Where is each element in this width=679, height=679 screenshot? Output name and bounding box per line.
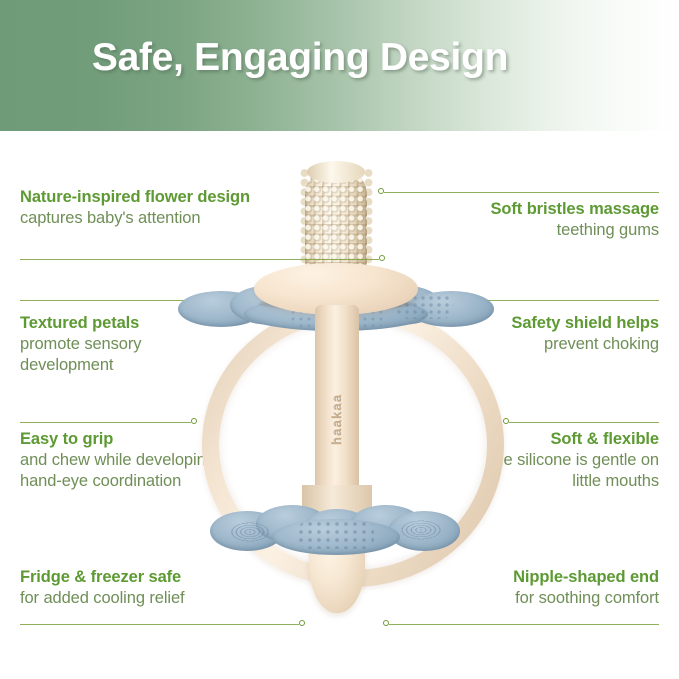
leader-endpoint-dot bbox=[378, 188, 384, 194]
leader-line-stroke bbox=[389, 624, 659, 625]
callout-body: for added cooling relief bbox=[20, 588, 250, 609]
callout-left-4: Fridge & freezer safe for added cooling … bbox=[20, 568, 250, 609]
brand-logo: haakaa bbox=[318, 373, 356, 465]
header-banner: Safe, Engaging Design bbox=[0, 0, 679, 131]
leader-line-stroke bbox=[20, 259, 379, 260]
leader-line-stroke bbox=[509, 422, 659, 423]
bristle-brush-top bbox=[307, 161, 365, 183]
lower-flower-petals bbox=[210, 503, 460, 561]
leader-endpoint-dot bbox=[503, 418, 509, 424]
callout-heading: Soft bristles massage bbox=[419, 200, 659, 220]
leader-line-right-4 bbox=[383, 620, 659, 629]
leader-line-left-3 bbox=[20, 418, 197, 427]
callout-right-1: Soft bristles massage teething gums bbox=[419, 200, 659, 241]
callout-body: captures baby's attention bbox=[20, 208, 250, 229]
callout-body: promote sensory development bbox=[20, 334, 210, 376]
petal-dot-texture bbox=[298, 521, 374, 549]
callout-right-4: Nipple-shaped end for soothing comfort bbox=[419, 568, 659, 609]
leader-line-right-3 bbox=[503, 418, 659, 427]
callout-body: teething gums bbox=[419, 220, 659, 241]
callout-body: for soothing comfort bbox=[419, 588, 659, 609]
callout-heading: Nipple-shaped end bbox=[419, 568, 659, 588]
leader-line-left-4 bbox=[20, 620, 305, 629]
leader-line-stroke bbox=[384, 192, 659, 193]
leader-line-right-1 bbox=[378, 188, 659, 197]
callout-heading: Nature-inspired flower design bbox=[20, 188, 250, 208]
petal-spiral-texture bbox=[398, 519, 444, 541]
leader-endpoint-dot bbox=[191, 418, 197, 424]
leader-endpoint-dot bbox=[299, 620, 305, 626]
page-title: Safe, Engaging Design bbox=[0, 36, 600, 80]
leader-endpoint-dot bbox=[379, 255, 385, 261]
leader-line-stroke bbox=[20, 422, 191, 423]
callout-heading: Easy to grip bbox=[20, 430, 220, 450]
leader-endpoint-dot bbox=[383, 620, 389, 626]
callout-left-1: Nature-inspired flower design captures b… bbox=[20, 188, 250, 229]
callout-left-3: Easy to grip and chew while developing h… bbox=[20, 430, 220, 492]
infographic-canvas: Safe, Engaging Design haakaa bbox=[0, 0, 679, 679]
petal-spiral-texture bbox=[228, 521, 272, 543]
callout-heading: Fridge & freezer safe bbox=[20, 568, 250, 588]
leader-line-stroke bbox=[20, 624, 299, 625]
callout-body: and chew while developing hand-eye coord… bbox=[20, 450, 220, 492]
